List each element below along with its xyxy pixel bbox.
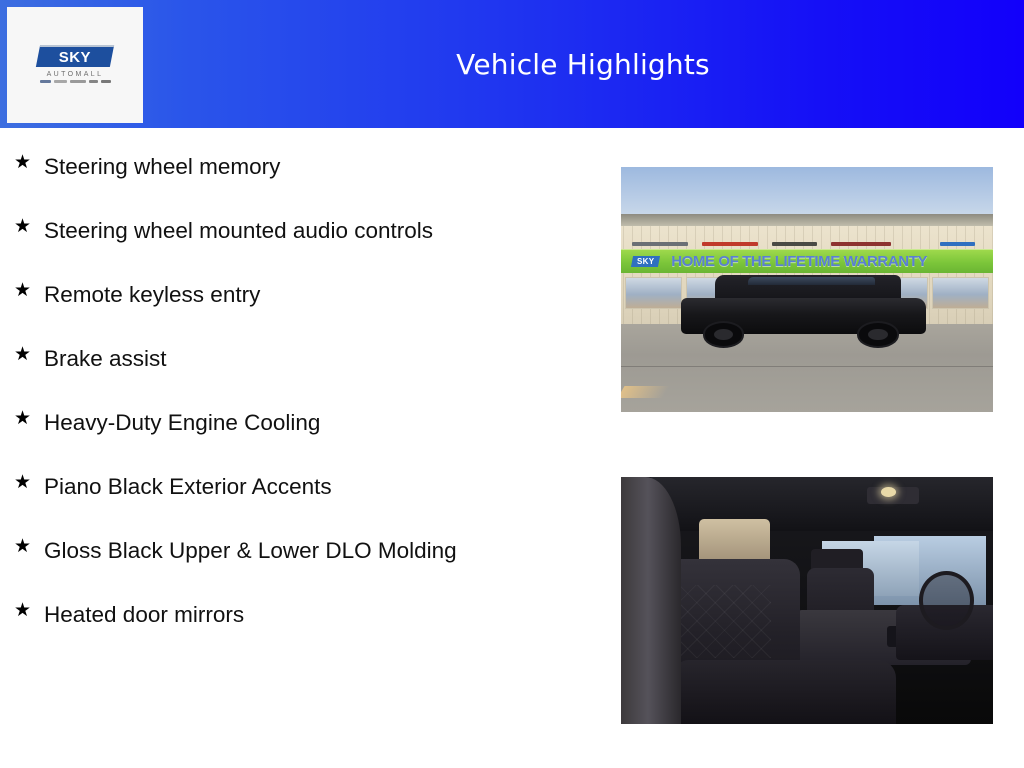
banner-sky-logo: SKY	[631, 256, 660, 267]
list-item: ★ Heavy-Duty Engine Cooling	[0, 406, 600, 440]
list-item-label: Heated door mirrors	[44, 598, 494, 632]
vehicle-interior-photo[interactable]	[621, 477, 993, 724]
sky-logo-badge: SKY	[36, 45, 114, 67]
steering-wheel	[919, 571, 975, 630]
list-item: ★ Remote keyless entry	[0, 278, 600, 312]
page-header: SKY AUTOMALL Vehicle Highlights	[0, 0, 1024, 128]
vehicle-highlights-list: ★ Steering wheel memory ★ Steering wheel…	[0, 128, 600, 662]
list-item-label: Remote keyless entry	[44, 278, 494, 312]
list-item: ★ Gloss Black Upper & Lower DLO Molding	[0, 534, 600, 568]
star-icon: ★	[14, 214, 44, 239]
oem-brand-logos	[40, 80, 111, 83]
list-item-label: Steering wheel mounted audio controls	[44, 214, 494, 248]
rear-wheel	[857, 321, 899, 347]
banner-text: HOME OF THE LIFETIME WARRANTY	[671, 253, 927, 270]
list-item-label: Heavy-Duty Engine Cooling	[44, 406, 494, 440]
door-pillar	[621, 477, 681, 724]
front-wheel	[703, 321, 745, 347]
star-icon: ★	[14, 150, 44, 175]
passenger-headrest	[699, 519, 770, 561]
list-item: ★ Brake assist	[0, 342, 600, 376]
page-title: Vehicle Highlights	[144, 0, 1024, 128]
list-item-label: Brake assist	[44, 342, 494, 376]
oem-signage	[632, 239, 982, 249]
list-item-label: Piano Black Exterior Accents	[44, 470, 494, 504]
warranty-banner: SKY HOME OF THE LIFETIME WARRANTY	[621, 249, 993, 273]
suv-silhouette	[681, 275, 927, 344]
seat-cushion	[673, 660, 896, 724]
list-item: ★ Heated door mirrors	[0, 598, 600, 632]
dealer-logo[interactable]: SKY AUTOMALL	[7, 7, 143, 123]
list-item: ★ Piano Black Exterior Accents	[0, 470, 600, 504]
sun-glare	[621, 386, 669, 398]
star-icon: ★	[14, 470, 44, 495]
dome-light-icon	[881, 487, 896, 497]
star-icon: ★	[14, 278, 44, 303]
star-icon: ★	[14, 534, 44, 559]
list-item: ★ Steering wheel memory	[0, 150, 600, 184]
sky-logo-text: SKY	[59, 50, 91, 65]
list-item-label: Gloss Black Upper & Lower DLO Molding	[44, 534, 494, 568]
automall-tagline: AUTOMALL	[47, 71, 104, 78]
star-icon: ★	[14, 406, 44, 431]
star-icon: ★	[14, 598, 44, 623]
list-item: ★ Steering wheel mounted audio controls	[0, 214, 600, 248]
star-icon: ★	[14, 342, 44, 367]
vehicle-exterior-photo[interactable]: SKY HOME OF THE LIFETIME WARRANTY	[621, 167, 993, 412]
list-item-label: Steering wheel memory	[44, 150, 494, 184]
